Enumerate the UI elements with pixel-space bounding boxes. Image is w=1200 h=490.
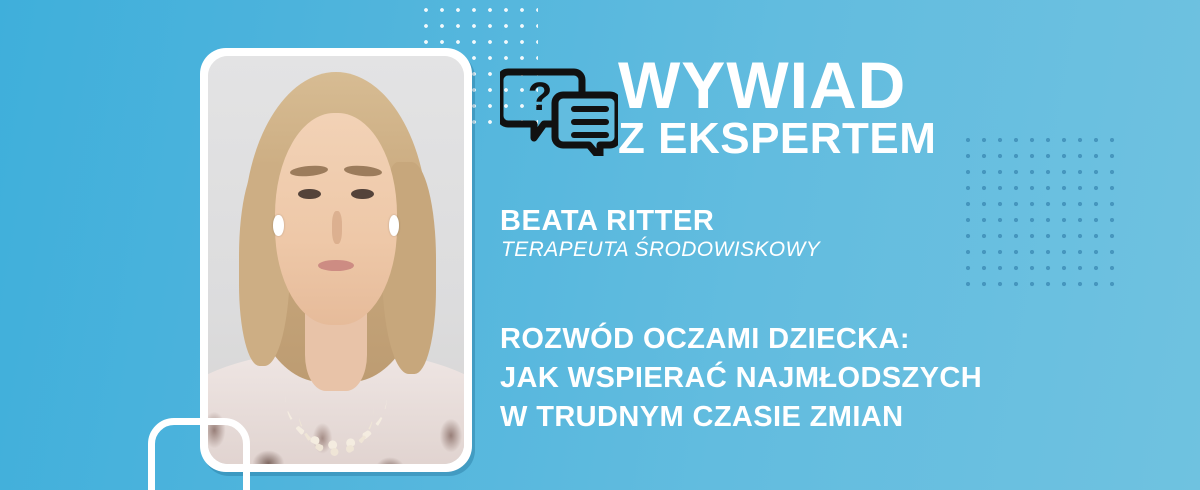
- headline-line-3: W TRUDNYM CZASIE ZMIAN: [500, 398, 982, 437]
- banner-headline: ROZWÓD OCZAMI DZIECKA: JAK WSPIERAĆ NAJM…: [500, 320, 982, 437]
- portrait-earring-right: [389, 215, 399, 235]
- interview-banner: ? WYWIAD Z EKSPERTEM BEATA RITTER TERAPE…: [0, 0, 1200, 490]
- speech-bubbles-question-icon: ?: [500, 60, 618, 156]
- svg-text:?: ?: [528, 75, 552, 119]
- banner-title-sub: Z EKSPERTEM: [618, 115, 936, 163]
- portrait-nose: [332, 211, 342, 244]
- expert-role: TERAPEUTA ŚRODOWISKOWY: [501, 238, 820, 262]
- expert-name: BEATA RITTER: [500, 205, 714, 238]
- portrait-pearl-necklace-inner: [298, 358, 375, 456]
- expert-portrait-photo: [208, 56, 464, 464]
- portrait-earring-left: [273, 215, 283, 235]
- portrait-eye-left: [298, 189, 321, 200]
- expert-portrait-frame: [200, 48, 472, 472]
- outline-square-accent: [148, 418, 250, 490]
- banner-title-main: WYWIAD: [618, 52, 906, 118]
- headline-line-2: JAK WSPIERAĆ NAJMŁODSZYCH: [500, 359, 982, 398]
- headline-line-1: ROZWÓD OCZAMI DZIECKA:: [500, 320, 982, 359]
- dot-pattern-right-icon: [966, 138, 1124, 292]
